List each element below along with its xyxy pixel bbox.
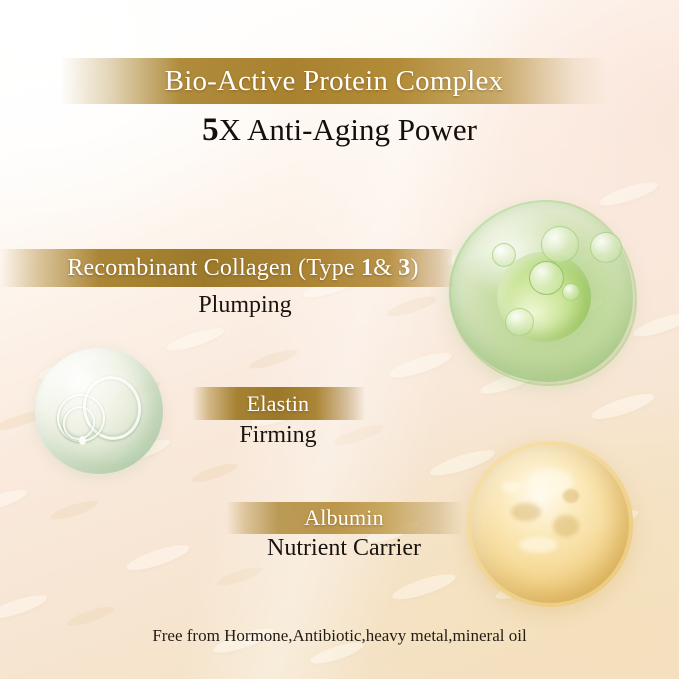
ingredient-benefit-collagen: Plumping (120, 292, 370, 319)
product-infographic: Bio-Active Protein Complex 5X Anti-Aging… (0, 0, 679, 679)
droplet-bubble (505, 308, 534, 336)
droplet-bubble (529, 261, 564, 295)
droplet-texture (553, 515, 579, 537)
header-banner: Bio-Active Protein Complex (60, 58, 608, 104)
ingredient-banner-collagen: Recombinant Collagen (Type 1& 3) (0, 249, 452, 287)
collagen-type-3: 3 (398, 255, 410, 281)
ingredient-name-collagen: Recombinant Collagen (Type 1& 3) (0, 255, 452, 282)
green-blob-droplet (443, 196, 643, 386)
droplet-texture (519, 537, 557, 553)
droplet-bubble (492, 243, 516, 267)
ingredient-banner-albumin: Albumin (226, 502, 462, 534)
subtitle-multiplier: 5 (202, 112, 219, 148)
ingredient-name-albumin: Albumin (226, 505, 462, 531)
droplet-rim (467, 441, 633, 607)
collagen-name-mid: & (373, 255, 398, 281)
droplet-texture (563, 489, 579, 503)
droplet-texture (511, 503, 541, 521)
header-subtitle: 5X Anti-Aging Power (0, 112, 679, 149)
ingredient-benefit-albumin: Nutrient Carrier (222, 535, 466, 562)
gold-sphere-droplet (467, 441, 633, 607)
ingredient-banner-elastin: Elastin (192, 387, 364, 420)
droplet-highlight (79, 436, 86, 445)
droplet-texture (501, 481, 521, 493)
green-sphere-droplet (35, 348, 163, 474)
collagen-name-suffix: ) (410, 255, 418, 281)
page-title: Bio-Active Protein Complex (60, 65, 608, 98)
collagen-type-1: 1 (361, 255, 373, 281)
collagen-name-prefix: Recombinant Collagen (Type (67, 255, 361, 281)
droplet-bubble (562, 283, 580, 301)
subtitle-text: X Anti-Aging Power (219, 112, 477, 147)
free-from-disclaimer: Free from Hormone,Antibiotic,heavy metal… (0, 626, 679, 646)
droplet-bubble (541, 226, 579, 263)
droplet-bubble (590, 232, 622, 263)
ingredient-name-elastin: Elastin (192, 391, 364, 417)
ingredient-benefit-elastin: Firming (186, 422, 370, 449)
